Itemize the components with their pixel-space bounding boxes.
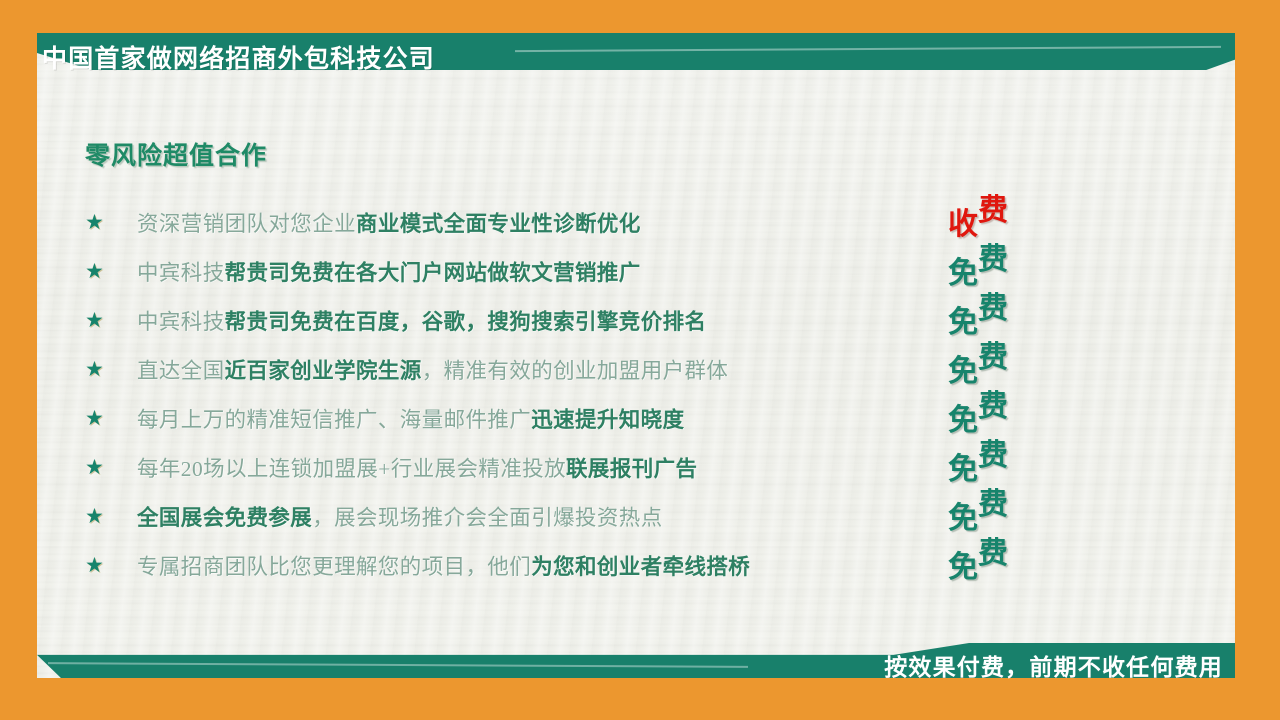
price-char-second: 费: [978, 245, 1008, 275]
price-char-first: 免: [948, 357, 978, 387]
list-item-text-highlight: 商业模式全面专业性诊断优化: [356, 212, 641, 236]
slide-root: 中国首家做网络招商外包科技公司 零风险超值合作 ★资深营销团队对您企业商业模式全…: [0, 0, 1280, 720]
star-icon: ★: [85, 506, 137, 527]
price-badge-free: 免费: [948, 539, 1068, 588]
price-char-first: 免: [948, 308, 978, 338]
list-item-text-plain-after: ，精准有效的创业加盟用户群体: [422, 359, 729, 383]
footer-tagline: 按效果付费，前期不收任何费用: [884, 648, 1223, 682]
price-char-first: 免: [948, 406, 978, 436]
list-item-text-highlight: 近百家创业学院生源: [225, 359, 422, 383]
price-char-first: 免: [948, 455, 978, 485]
section-title: 零风险超值合作: [85, 136, 267, 172]
star-icon: ★: [85, 310, 137, 331]
price-char-second: 费: [978, 343, 1008, 373]
price-badge-free: 免费: [948, 441, 1068, 490]
star-icon: ★: [85, 555, 137, 576]
list-item-text-highlight: 迅速提升知晓度: [531, 408, 684, 432]
star-icon: ★: [85, 212, 137, 233]
star-icon: ★: [85, 408, 137, 429]
header-title: 中国首家做网络招商外包科技公司: [42, 39, 435, 75]
list-item-text-highlight: 帮贵司免费在百度，谷歌，搜狗搜索引擎竞价排名: [225, 310, 707, 334]
list-item-text-highlight: 联展报刊广告: [566, 457, 697, 481]
list-item-text-plain-after: ，展会现场推介会全面引爆投资热点: [312, 506, 662, 530]
star-icon: ★: [85, 457, 137, 478]
price-char-second: 费: [978, 196, 1008, 226]
price-char-first: 免: [948, 553, 978, 583]
list-item-text-highlight: 帮贵司免费在各大门户网站做软文营销推广: [225, 261, 641, 285]
list-item-text-plain-before: 直达全国: [137, 359, 225, 383]
price-column: 收费免费免费免费免费免费免费免费: [948, 196, 1068, 588]
list-item-text-plain-before: 中宾科技: [137, 261, 225, 285]
price-char-second: 费: [978, 392, 1008, 422]
price-badge-free: 免费: [948, 490, 1068, 539]
price-badge-free: 免费: [948, 392, 1068, 441]
list-item-text-plain-before: 中宾科技: [137, 310, 225, 334]
price-badge-free: 免费: [948, 343, 1068, 392]
price-badge-free: 免费: [948, 294, 1068, 343]
price-char-first: 免: [948, 504, 978, 534]
star-icon: ★: [85, 261, 137, 282]
price-char-second: 费: [978, 294, 1008, 324]
price-badge-paid: 收费: [948, 196, 1068, 245]
list-item-text-plain-before: 专属招商团队比您更理解您的项目，他们: [137, 555, 531, 579]
price-char-first: 收: [948, 210, 978, 240]
star-icon: ★: [85, 359, 137, 380]
list-item-text-plain-before: 资深营销团队对您企业: [137, 212, 356, 236]
price-char-second: 费: [978, 539, 1008, 569]
list-item-text-highlight: 全国展会免费参展: [137, 506, 312, 530]
price-char-second: 费: [978, 441, 1008, 471]
list-item-text-plain-before: 每月上万的精准短信推广、海量邮件推广: [137, 408, 531, 432]
price-badge-free: 免费: [948, 245, 1068, 294]
list-item-text-plain-before: 每年20场以上连锁加盟展+行业展会精准投放: [137, 457, 566, 481]
list-item-text-highlight: 为您和创业者牵线搭桥: [531, 555, 750, 579]
price-char-second: 费: [978, 490, 1008, 520]
price-char-first: 免: [948, 259, 978, 289]
